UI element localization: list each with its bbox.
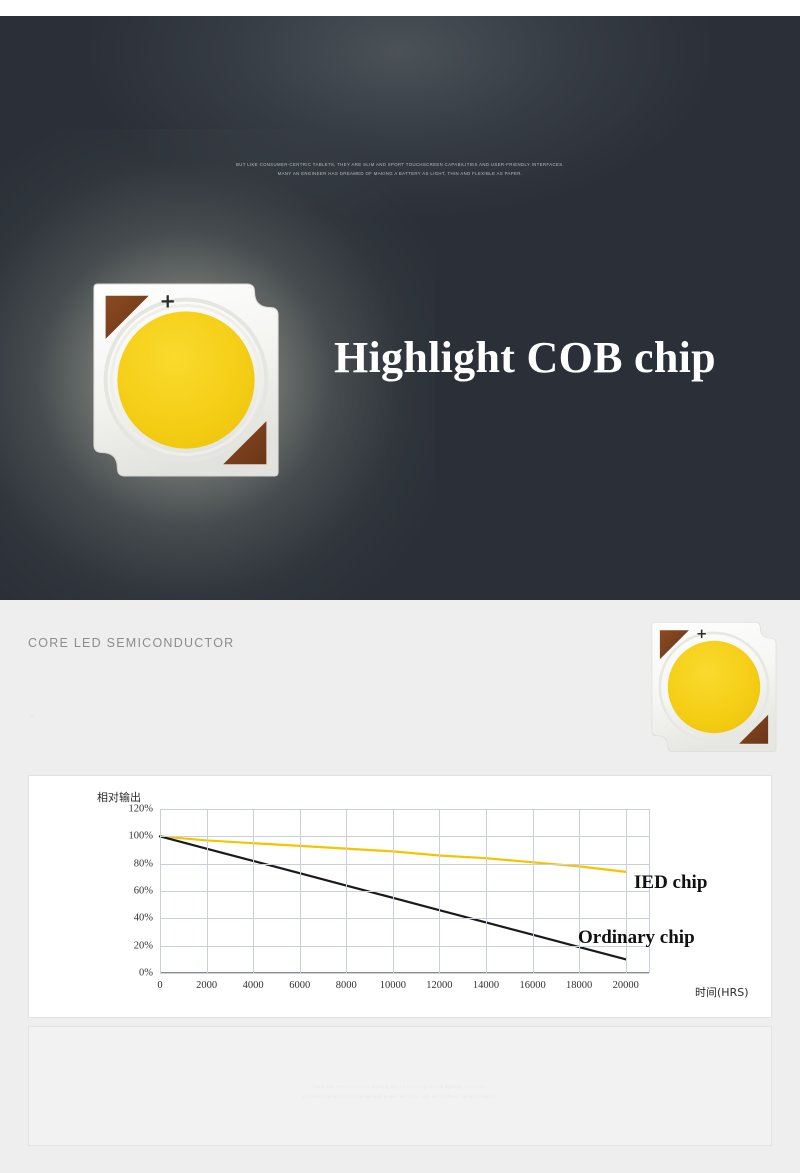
hero-caption: BUT LIKE CONSUMER-CENTRIC TABLETS, THEY … xyxy=(0,160,800,178)
chart-x-tick-label: 6000 xyxy=(289,980,310,991)
chart-y-tick-label: 120% xyxy=(129,804,154,815)
chart-x-tick-label: 14000 xyxy=(473,980,499,991)
polarity-plus-icon: + xyxy=(696,627,707,642)
hero-caption-line-1: BUT LIKE CONSUMER-CENTRIC TABLETS, THEY … xyxy=(0,160,800,169)
chart-plot-area: 0200040006000800010000120001400016000180… xyxy=(160,809,649,973)
chart-gridline-h xyxy=(160,836,649,837)
chart-y-tick-label: 0% xyxy=(139,968,153,979)
chart-x-tick-label: 8000 xyxy=(336,980,357,991)
section-label: CORE LED SEMICONDUCTOR xyxy=(28,636,234,650)
hero-top-glow xyxy=(90,16,710,216)
chart-gridline-h xyxy=(160,891,649,892)
chart-x-tick-label: 10000 xyxy=(380,980,406,991)
lumen-maintenance-chart: 相对输出 时间(HRS) 020004000600080001000012000… xyxy=(28,775,772,1018)
hero-section: BUT LIKE CONSUMER-CENTRIC TABLETS, THEY … xyxy=(0,16,800,600)
chart-x-tick-label: 0 xyxy=(157,980,162,991)
hero-caption-line-2: MANY AN ENGINEER HAS DREAMED OF MAKING A… xyxy=(0,169,800,178)
chart-x-tick-label: 12000 xyxy=(426,980,452,991)
polarity-plus-icon: + xyxy=(160,289,176,312)
chart-y-tick-label: 20% xyxy=(134,940,153,951)
chart-x-tick-label: 4000 xyxy=(243,980,264,991)
chart-gridline-h xyxy=(160,809,649,810)
legend-label-ordinary-chip: Ordinary chip xyxy=(578,927,695,949)
legend-label-ied-chip: IED chip xyxy=(634,872,707,894)
footer-text: core led semiconductor lighting co.,ltd … xyxy=(0,1082,800,1102)
footer-line-2: professional manufacturer of high power … xyxy=(0,1092,800,1102)
cob-led-chip-thumbnail-icon: + xyxy=(648,618,780,756)
footer-line-1: core led semiconductor lighting co.,ltd … xyxy=(0,1082,800,1092)
chart-x-tick-label: 20000 xyxy=(613,980,639,991)
chart-x-axis-title: 时间(HRS) xyxy=(695,984,748,1000)
chart-y-tick-label: 80% xyxy=(134,858,153,869)
chart-x-tick-label: 16000 xyxy=(519,980,545,991)
chart-gridline-h xyxy=(160,918,649,919)
chart-x-tick-label: 18000 xyxy=(566,980,592,991)
chart-gridline-h xyxy=(160,864,649,865)
chart-gridline-h xyxy=(160,973,649,974)
chart-y-tick-label: 40% xyxy=(134,913,153,924)
chart-y-tick-label: 100% xyxy=(129,831,154,842)
chart-x-tick-label: 2000 xyxy=(196,980,217,991)
tiny-mark: - xyxy=(31,714,33,720)
cob-led-chip-icon: + xyxy=(88,278,284,482)
chart-gridline-h xyxy=(160,946,649,947)
chart-y-tick-label: 60% xyxy=(134,886,153,897)
page-title: Highlight COB chip xyxy=(334,332,716,383)
